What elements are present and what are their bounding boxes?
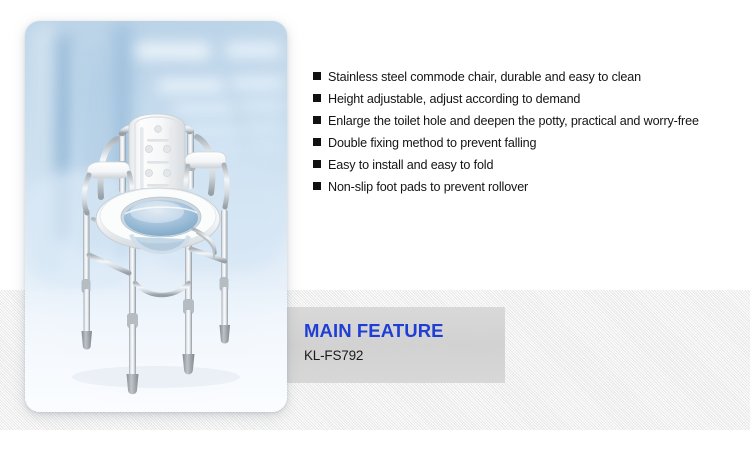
square-bullet-icon xyxy=(313,94,321,102)
model-code-label: KL-FS792 xyxy=(304,348,363,363)
main-feature-heading: MAIN FEATURE xyxy=(304,320,444,342)
product-feature-banner: Stainless steel commode chair, durable a… xyxy=(0,0,750,453)
feature-item-label: Easy to install and easy to fold xyxy=(328,154,493,176)
feature-item: Height adjustable, adjust according to d… xyxy=(313,88,738,110)
square-bullet-icon xyxy=(313,160,321,168)
feature-item: Non-slip foot pads to prevent rollover xyxy=(313,176,738,198)
feature-item-label: Non-slip foot pads to prevent rollover xyxy=(328,176,528,198)
product-photo-panel xyxy=(25,21,287,412)
feature-item: Stainless steel commode chair, durable a… xyxy=(313,66,738,88)
square-bullet-icon xyxy=(313,72,321,80)
feature-item: Enlarge the toilet hole and deepen the p… xyxy=(313,110,738,132)
feature-item: Easy to install and easy to fold xyxy=(313,154,738,176)
feature-list: Stainless steel commode chair, durable a… xyxy=(313,66,738,198)
feature-item-label: Height adjustable, adjust according to d… xyxy=(328,88,580,110)
square-bullet-icon xyxy=(313,138,321,146)
feature-item: Double fixing method to prevent falling xyxy=(313,132,738,154)
feature-item-label: Enlarge the toilet hole and deepen the p… xyxy=(328,110,699,132)
feature-item-label: Double fixing method to prevent falling xyxy=(328,132,536,154)
feature-item-label: Stainless steel commode chair, durable a… xyxy=(328,66,641,88)
commode-chair-illustration xyxy=(25,21,287,412)
square-bullet-icon xyxy=(313,182,321,190)
square-bullet-icon xyxy=(313,116,321,124)
